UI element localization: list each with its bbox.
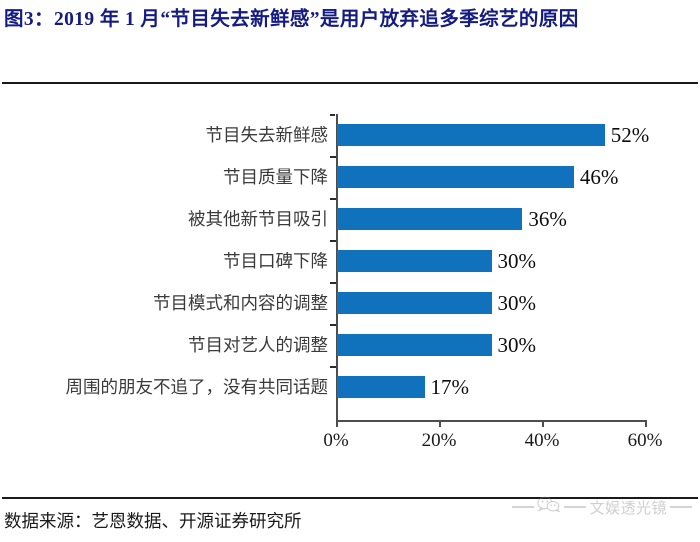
x-axis-tick-label: 60% xyxy=(628,430,663,452)
figure-title: 图3：2019 年 1 月“节目失去新鲜感”是用户放弃追多季综艺的原因 xyxy=(4,2,696,38)
y-axis-tick xyxy=(330,282,336,284)
category-label: 节目口碑下降 xyxy=(0,240,328,282)
watermark-rule-left xyxy=(512,506,534,508)
bar[interactable] xyxy=(337,208,522,230)
watermark-rule-right xyxy=(670,506,692,508)
category-label: 节目失去新鲜感 xyxy=(0,114,328,156)
bar[interactable] xyxy=(337,376,425,398)
bar-value-label: 30% xyxy=(498,250,537,272)
bar-value-label: 30% xyxy=(498,292,537,314)
chart-row: 节目质量下降46% xyxy=(0,156,700,198)
bar-value-label: 36% xyxy=(528,208,567,230)
title-divider xyxy=(2,82,698,84)
x-axis-tick xyxy=(439,420,441,427)
chart-row: 被其他新节目吸引36% xyxy=(0,198,700,240)
chart-row: 节目对艺人的调整30% xyxy=(0,324,700,366)
y-axis-tick xyxy=(330,114,335,116)
category-label: 节目对艺人的调整 xyxy=(0,324,328,366)
bar[interactable] xyxy=(337,250,492,272)
y-axis-tick xyxy=(330,240,336,242)
source-note: 数据来源：艺恩数据、开源证券研究所 xyxy=(4,508,302,533)
bar[interactable] xyxy=(337,334,492,356)
bar-value-label: 17% xyxy=(431,376,470,398)
x-axis-line xyxy=(336,420,646,422)
chart-row: 节目失去新鲜感52% xyxy=(0,114,700,156)
bar[interactable] xyxy=(337,124,605,146)
x-axis-tick xyxy=(336,420,338,427)
x-axis-tick-label: 40% xyxy=(525,430,560,452)
bar-value-label: 30% xyxy=(498,334,537,356)
x-axis-tick-label: 0% xyxy=(323,430,348,452)
chart-row: 节目模式和内容的调整30% xyxy=(0,282,700,324)
watermark-rule-mid xyxy=(564,506,586,508)
watermark: 文娱透光镜 xyxy=(512,494,692,520)
bar-value-label: 46% xyxy=(580,166,619,188)
bar-value-label: 52% xyxy=(611,124,650,146)
bar[interactable] xyxy=(337,166,574,188)
y-axis-tick xyxy=(330,198,336,200)
chart-row: 周围的朋友不追了，没有共同话题17% xyxy=(0,366,700,408)
x-axis-tick xyxy=(542,420,544,427)
y-axis-tick xyxy=(330,366,336,368)
y-axis-tick xyxy=(330,156,336,158)
x-axis-tick-label: 20% xyxy=(422,430,457,452)
chart-row: 节目口碑下降30% xyxy=(0,240,700,282)
bar-chart: 节目失去新鲜感52%节目质量下降46%被其他新节目吸引36%节目口碑下降30%节… xyxy=(0,92,700,477)
watermark-label: 文娱透光镜 xyxy=(589,497,667,518)
category-label: 被其他新节目吸引 xyxy=(0,198,328,240)
category-label: 节目质量下降 xyxy=(0,156,328,198)
bar[interactable] xyxy=(337,292,492,314)
x-axis-tick xyxy=(645,420,647,427)
y-axis-tick xyxy=(330,324,336,326)
category-label: 节目模式和内容的调整 xyxy=(0,282,328,324)
wechat-icon xyxy=(537,496,561,518)
category-label: 周围的朋友不追了，没有共同话题 xyxy=(0,366,328,408)
